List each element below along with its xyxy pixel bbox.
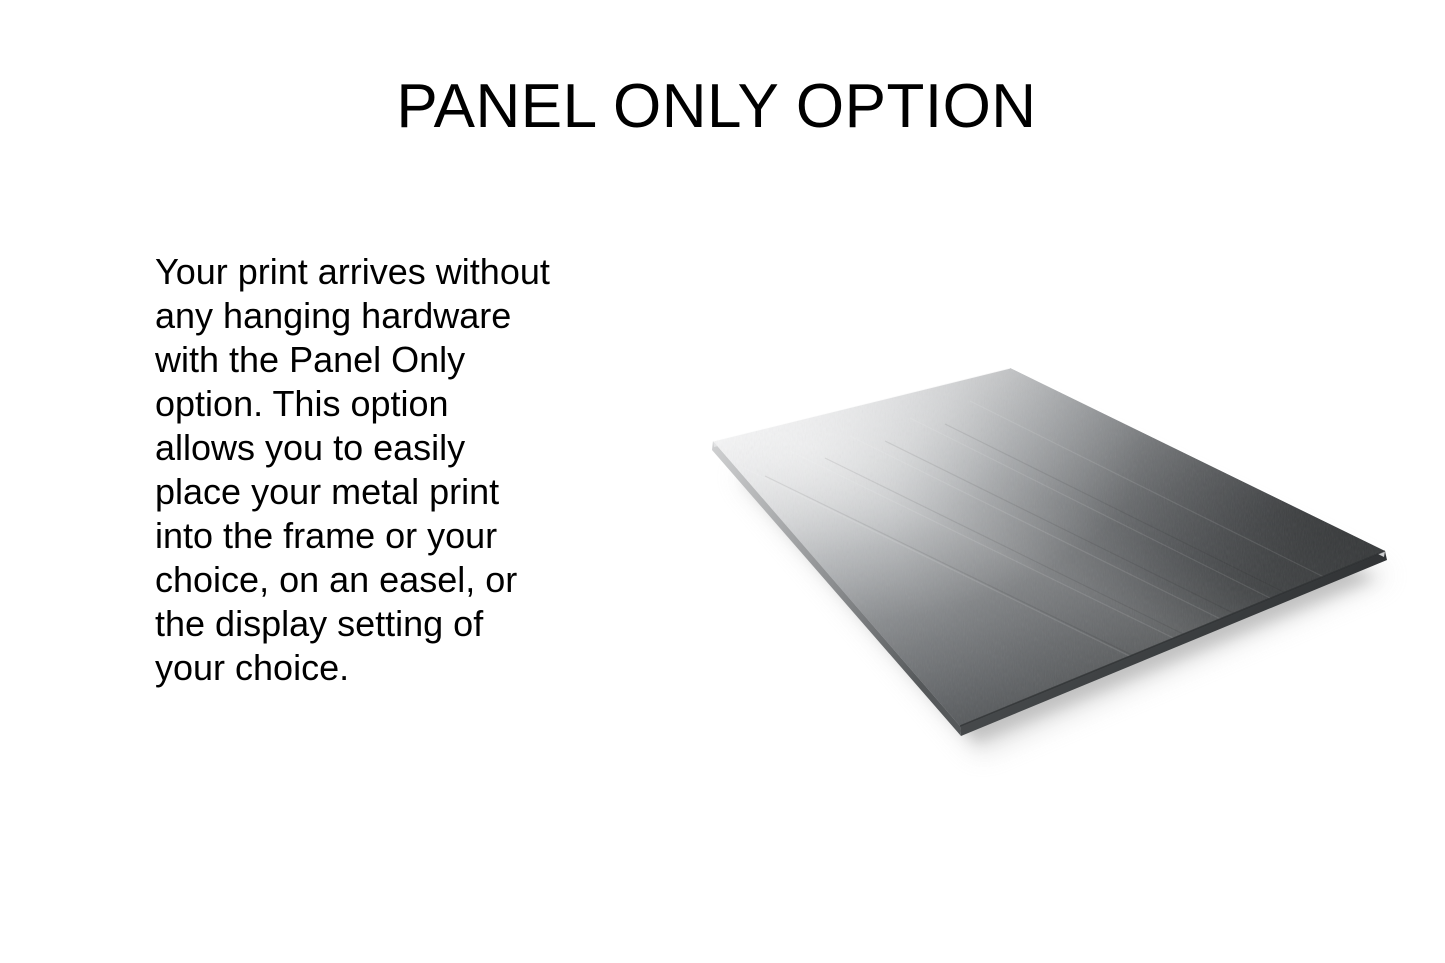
body-line: Your print arrives without bbox=[155, 250, 585, 294]
body-line: choice, on an easel, or bbox=[155, 558, 585, 602]
body-line: your choice. bbox=[155, 646, 585, 690]
slide-canvas: PANEL ONLY OPTION Your print arrives wit… bbox=[0, 0, 1445, 963]
body-line: into the frame or your bbox=[155, 514, 585, 558]
body-line: the display setting of bbox=[155, 602, 585, 646]
metal-panel-image bbox=[680, 346, 1420, 756]
page-title: PANEL ONLY OPTION bbox=[0, 72, 1439, 142]
metal-panel-illustration bbox=[680, 346, 1420, 756]
body-line: allows you to easily bbox=[155, 426, 585, 470]
body-line: option. This option bbox=[155, 382, 585, 426]
body-line: place your metal print bbox=[155, 470, 585, 514]
body-line: with the Panel Only bbox=[155, 338, 585, 382]
body-paragraph: Your print arrives without any hanging h… bbox=[155, 250, 585, 690]
body-line: any hanging hardware bbox=[155, 294, 585, 338]
